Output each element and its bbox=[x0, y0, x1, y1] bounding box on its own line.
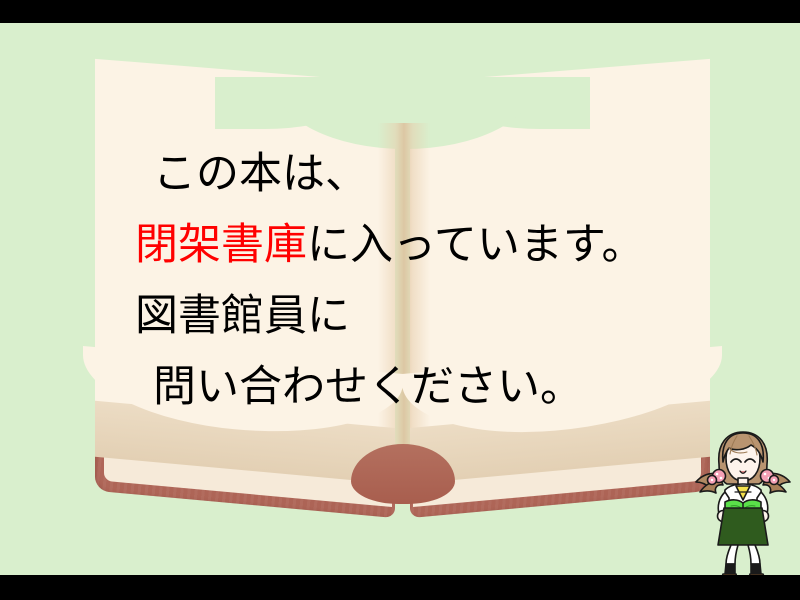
open-book-illustration: この本は、 閉架書庫に入っています。 図書館員に 問い合わせください。 bbox=[95, 83, 710, 518]
notice-line-3-text: 図書館員に bbox=[135, 291, 350, 341]
screenshot-stage: この本は、 閉架書庫に入っています。 図書館員に 問い合わせください。 bbox=[0, 0, 800, 600]
notice-line-1-text: この本は、 bbox=[153, 149, 368, 199]
notice-text-block: この本は、 閉架書庫に入っています。 図書館員に 問い合わせください。 bbox=[135, 139, 700, 423]
slide-canvas: この本は、 閉架書庫に入っています。 図書館員に 問い合わせください。 bbox=[0, 23, 800, 575]
notice-line-2: 閉架書庫に入っています。 bbox=[135, 210, 700, 281]
girl-reading-icon bbox=[695, 428, 791, 575]
notice-line-3: 図書館員に bbox=[135, 281, 700, 352]
notice-line-2-rest: に入っています。 bbox=[307, 220, 645, 270]
notice-line-4-text: 問い合わせください。 bbox=[153, 362, 583, 412]
notice-line-1: この本は、 bbox=[135, 139, 700, 210]
letterbox-bar-top bbox=[0, 0, 800, 23]
notice-highlight-closed-stacks: 閉架書庫 bbox=[135, 220, 307, 270]
notice-line-4: 問い合わせください。 bbox=[135, 352, 700, 423]
letterbox-bar-bottom bbox=[0, 575, 800, 600]
